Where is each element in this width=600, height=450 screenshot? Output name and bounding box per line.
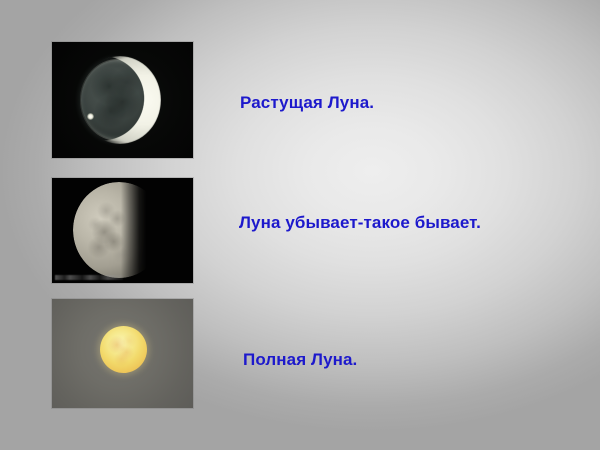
photo-watermark: [55, 275, 123, 280]
moon-disk: [100, 326, 147, 373]
caption-full-moon: Полная Луна.: [243, 350, 357, 370]
lunar-maria: [100, 326, 147, 373]
moon-disk: [73, 182, 165, 278]
full-moon-photo: [52, 299, 193, 408]
caption-waning-moon: Луна убывает-такое бывает.: [239, 213, 481, 233]
bright-crescent-limb: [79, 56, 161, 144]
waning-moon-photo: [52, 178, 193, 283]
star-point: [87, 113, 94, 120]
presentation-slide: Растущая Луна. Луна убывает-такое бывает…: [0, 0, 600, 450]
caption-waxing-moon: Растущая Луна.: [240, 93, 374, 113]
lunar-craters: [73, 182, 165, 278]
waxing-crescent-moon-photo: [52, 42, 193, 158]
moon-disk: [79, 56, 161, 144]
